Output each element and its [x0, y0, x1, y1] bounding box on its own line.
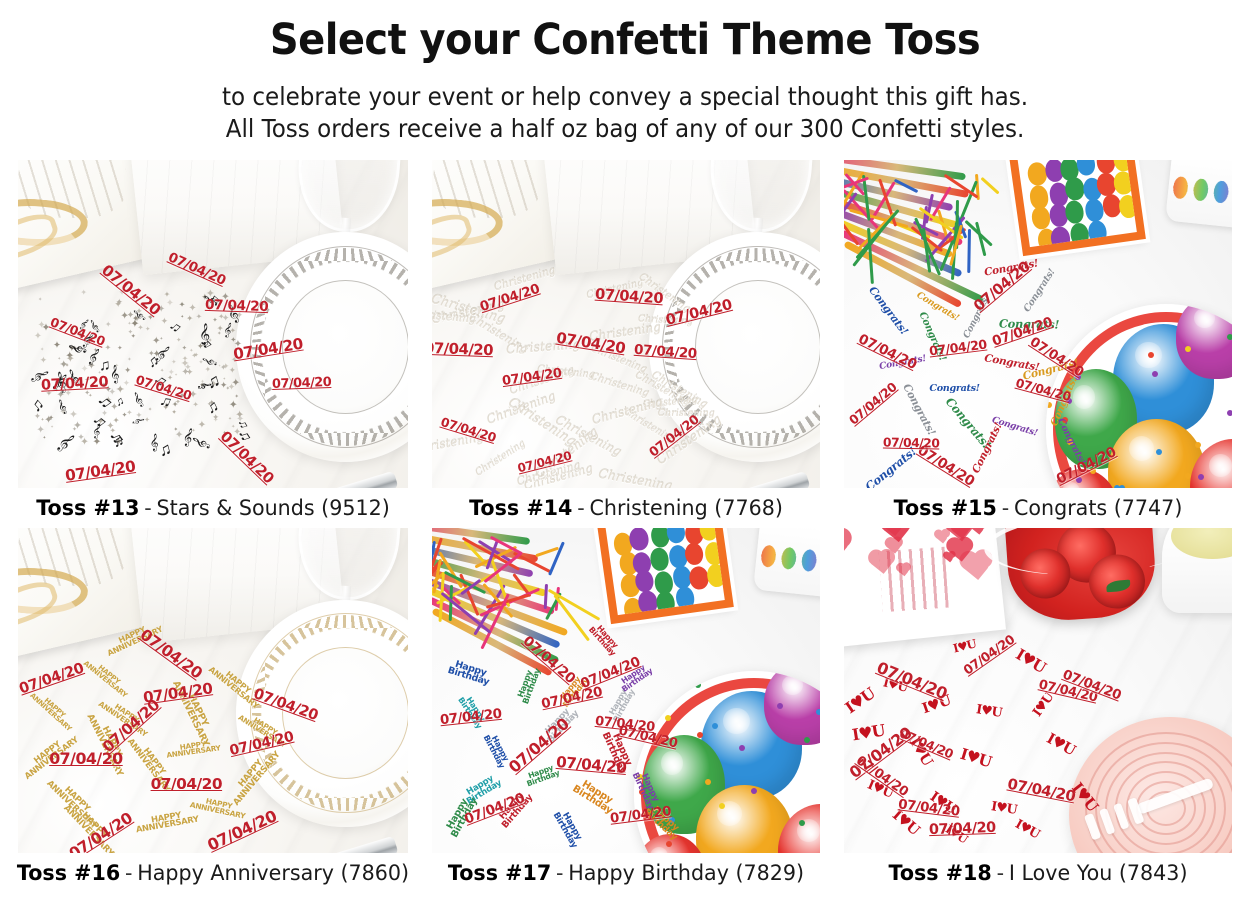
- happy-birthday-confetti: HappyBirthday: [588, 621, 622, 657]
- date-confetti: 07/04/20: [439, 707, 502, 728]
- date-confetti: 07/04/20: [1014, 376, 1072, 404]
- page-header: Select your Confetti Theme Toss to celeb…: [0, 0, 1250, 144]
- product-cell-toss-14[interactable]: ChristeningChristeningChristeningChriste…: [432, 160, 820, 528]
- star-confetti: ✦: [120, 312, 129, 322]
- star-confetti: ✦: [105, 321, 112, 329]
- product-number: Toss #17: [448, 861, 551, 886]
- page-root: Select your Confetti Theme Toss to celeb…: [0, 0, 1250, 917]
- star-confetti: ✦: [40, 356, 48, 365]
- confetti-layer-stars-and-sounds: ✦✦✦✦✦✦✦✦✦✦✦✦✦✦✦✦✦✦✦✦✦✦✦✦✦✦✦✦✦✦✦✦✦✦✦✦✦✦✦✦…: [18, 160, 408, 488]
- i-love-you-confetti: I♥U: [1013, 815, 1042, 840]
- star-confetti: ✦: [105, 344, 111, 351]
- date-confetti: 07/04/20: [1006, 775, 1077, 805]
- product-caption-toss-15: Toss #15 - Congrats (7747): [852, 488, 1224, 528]
- star-confetti: ✦: [182, 346, 187, 352]
- happy-birthday-confetti: HappyBirthday: [515, 665, 541, 705]
- star-confetti: ✦: [40, 348, 45, 354]
- caption-dash: -: [1002, 496, 1009, 521]
- star-confetti: ✦: [171, 360, 177, 367]
- i-love-you-confetti: I♥U: [1043, 730, 1077, 759]
- star-confetti: ✦: [69, 410, 78, 421]
- date-confetti: 07/04/20: [271, 375, 331, 392]
- star-confetti: ✦: [53, 341, 61, 351]
- confetti-theme-grid: ✦✦✦✦✦✦✦✦✦✦✦✦✦✦✦✦✦✦✦✦✦✦✦✦✦✦✦✦✦✦✦✦✦✦✦✦✦✦✦✦…: [18, 160, 1232, 893]
- star-confetti: ✦: [92, 438, 101, 448]
- product-caption-toss-13: Toss #13 - Stars & Sounds (9512): [26, 488, 400, 528]
- music-note-confetti: 𝄞: [56, 432, 77, 453]
- date-confetti: 07/04/20: [166, 250, 228, 289]
- caption-dash: -: [556, 861, 563, 886]
- star-confetti: ✦: [228, 417, 232, 421]
- star-confetti: ✦: [73, 421, 82, 432]
- star-confetti: ✦: [131, 334, 136, 340]
- star-confetti: ✦: [42, 436, 46, 440]
- music-note-confetti: 𝄞: [55, 399, 68, 414]
- music-note-confetti: 𝄞: [153, 345, 170, 363]
- caption-dash: -: [125, 861, 132, 886]
- date-confetti: 07/04/20: [232, 335, 304, 364]
- christening-confetti: Christening: [597, 466, 673, 488]
- product-caption-toss-14: Toss #14 - Christening (7768): [440, 488, 812, 528]
- congrats-confetti: Congrats!: [862, 444, 919, 488]
- music-note-confetti: 𝄞: [150, 436, 159, 451]
- star-confetti: ✦: [176, 338, 181, 344]
- date-confetti: 07/04/20: [432, 339, 494, 359]
- product-caption-toss-16: Toss #16 - Happy Anniversary (7860): [26, 853, 400, 893]
- star-confetti: ✦: [198, 420, 207, 431]
- star-confetti: ✦: [124, 366, 131, 374]
- product-photo-happy-birthday[interactable]: HappyBirthdayHappyBirthdayHappyBirthdayH…: [432, 528, 820, 853]
- product-number: Toss #18: [888, 861, 991, 886]
- music-note-confetti: 𝄞: [110, 367, 121, 384]
- star-confetti: ✦: [66, 354, 75, 365]
- star-confetti: ✦: [127, 358, 132, 364]
- product-name: Stars & Sounds (9512): [157, 496, 390, 521]
- star-confetti: ✦: [145, 327, 150, 334]
- product-name: Congrats (7747): [1014, 496, 1182, 521]
- date-confetti: 07/04/20: [151, 775, 223, 793]
- happy-birthday-confetti: HappyBirthday: [446, 659, 492, 687]
- music-note-confetti: 𝄞: [192, 436, 211, 452]
- caption-dash: -: [144, 496, 151, 521]
- happy-anniversary-confetti: HAPPYANNIVERSARY: [28, 687, 76, 732]
- star-confetti: ✦: [164, 291, 171, 299]
- product-number: Toss #16: [17, 861, 120, 886]
- star-confetti: ✦: [126, 409, 132, 417]
- i-love-you-confetti: I♥U: [844, 683, 878, 717]
- i-love-you-confetti: I♥U: [958, 745, 993, 771]
- star-confetti: ✦: [193, 401, 199, 409]
- product-cell-toss-16[interactable]: HAPPYANNIVERSARYHAPPYANNIVERSARYHAPPYANN…: [18, 528, 408, 893]
- star-confetti: ✦: [77, 433, 85, 442]
- product-name: Happy Anniversary (7860): [137, 861, 409, 886]
- star-confetti: ✦: [41, 418, 45, 422]
- confetti-layer-i-love-you: I♥UI♥UI♥UI♥UI♥UI♥UI♥UI♥UI♥UI♥UI♥UI♥UI♥UI…: [844, 528, 1232, 853]
- music-note-confetti: 𝄞: [131, 392, 144, 408]
- star-confetti: ✦: [59, 392, 64, 398]
- product-photo-i-love-you[interactable]: I♥UI♥UI♥UI♥UI♥UI♥UI♥UI♥UI♥UI♥UI♥UI♥UI♥UI…: [844, 528, 1232, 853]
- star-confetti: ✦: [180, 315, 184, 319]
- product-cell-toss-17[interactable]: HappyBirthdayHappyBirthdayHappyBirthdayH…: [432, 528, 820, 893]
- happy-anniversary-confetti: HAPPYANNIVERSARY: [82, 656, 132, 700]
- i-love-you-confetti: I♥U: [951, 636, 977, 655]
- subtitle-line-2: All Toss orders receive a half oz bag of…: [38, 113, 1213, 144]
- i-love-you-confetti: I♥U: [975, 702, 1003, 721]
- product-photo-congrats[interactable]: Congrats!Congrats!Congrats!Congrats!Cong…: [844, 160, 1232, 488]
- confetti-layer-christening: ChristeningChristeningChristeningChriste…: [432, 160, 820, 488]
- music-note-confetti: ♫: [167, 319, 185, 337]
- product-number: Toss #13: [36, 496, 139, 521]
- congrats-confetti: Congrats!: [866, 284, 911, 337]
- page-subtitle: to celebrate your event or help convey a…: [38, 81, 1213, 144]
- confetti-layer-happy-anniversary: HAPPYANNIVERSARYHAPPYANNIVERSARYHAPPYANN…: [18, 528, 408, 853]
- star-confetti: ✦: [231, 426, 235, 431]
- star-confetti: ✦: [152, 336, 161, 347]
- star-confetti: ✦: [174, 373, 177, 377]
- i-love-you-confetti: I♥U: [990, 799, 1018, 818]
- caption-dash: -: [997, 861, 1004, 886]
- product-caption-toss-18: Toss #18 - I Love You (7843): [852, 853, 1224, 893]
- product-number: Toss #14: [469, 496, 572, 521]
- star-confetti: ✦: [172, 411, 177, 417]
- happy-anniversary-confetti: HAPPYANNIVERSARY: [134, 809, 199, 835]
- music-note-confetti: 𝄞: [131, 417, 143, 426]
- happy-birthday-confetti: HappyBirthday: [552, 807, 585, 849]
- date-confetti: 07/04/20: [137, 626, 206, 683]
- music-note-confetti: ♫: [157, 440, 174, 460]
- music-note-confetti: 𝄞: [197, 381, 210, 391]
- star-confetti: ✦: [231, 378, 240, 389]
- star-confetti: ✦: [48, 416, 51, 420]
- product-name: Christening (7768): [589, 496, 782, 521]
- date-confetti: 07/04/20: [205, 297, 269, 315]
- star-confetti: ✦: [166, 299, 174, 309]
- star-confetti: ✦: [144, 416, 150, 423]
- star-confetti: ✦: [80, 289, 87, 297]
- date-confetti: 07/04/20: [846, 379, 900, 427]
- date-confetti: 07/04/20: [929, 819, 996, 837]
- star-confetti: ✦: [229, 366, 236, 375]
- star-confetti: ✦: [186, 315, 193, 323]
- star-confetti: ✦: [181, 368, 189, 378]
- confetti-layer-congrats: Congrats!Congrats!Congrats!Congrats!Cong…: [844, 160, 1232, 488]
- star-confetti: ✦: [38, 298, 43, 304]
- star-confetti: ✦: [196, 313, 202, 321]
- date-confetti: 07/04/20: [18, 661, 86, 698]
- star-confetti: ✦: [114, 300, 122, 309]
- star-confetti: ✦: [213, 417, 219, 424]
- product-cell-toss-15[interactable]: Congrats!Congrats!Congrats!Congrats!Cong…: [844, 160, 1232, 528]
- congrats-confetti: Congrats!: [929, 383, 979, 394]
- caption-dash: -: [577, 496, 584, 521]
- product-cell-toss-18[interactable]: I♥UI♥UI♥UI♥UI♥UI♥UI♥UI♥UI♥UI♥UI♥UI♥UI♥UI…: [844, 528, 1232, 893]
- product-photo-stars-and-sounds[interactable]: ✦✦✦✦✦✦✦✦✦✦✦✦✦✦✦✦✦✦✦✦✦✦✦✦✦✦✦✦✦✦✦✦✦✦✦✦✦✦✦✦…: [18, 160, 408, 488]
- product-photo-happy-anniversary[interactable]: HAPPYANNIVERSARYHAPPYANNIVERSARYHAPPYANN…: [18, 528, 408, 853]
- star-confetti: ✦: [161, 317, 169, 326]
- i-love-you-confetti: I♥U: [1012, 645, 1048, 676]
- product-caption-toss-17: Toss #17 - Happy Birthday (7829): [440, 853, 812, 893]
- product-name: I Love You (7843): [1009, 861, 1188, 886]
- star-confetti: ✦: [113, 417, 120, 425]
- star-confetti: ✦: [122, 413, 127, 419]
- date-confetti: 07/04/20: [594, 286, 663, 308]
- star-confetti: ✦: [217, 332, 222, 338]
- date-confetti: 07/04/20: [883, 435, 940, 450]
- star-confetti: ✦: [88, 394, 92, 399]
- star-confetti: ✦: [230, 338, 236, 345]
- star-confetti: ✦: [222, 362, 229, 370]
- star-confetti: ✦: [80, 365, 88, 375]
- happy-birthday-confetti: HappyBirthday: [570, 777, 617, 815]
- product-photo-christening[interactable]: ChristeningChristeningChristeningChriste…: [432, 160, 820, 488]
- product-cell-toss-13[interactable]: ✦✦✦✦✦✦✦✦✦✦✦✦✦✦✦✦✦✦✦✦✦✦✦✦✦✦✦✦✦✦✦✦✦✦✦✦✦✦✦✦…: [18, 160, 408, 528]
- star-confetti: ✦: [191, 352, 197, 360]
- page-title: Select your Confetti Theme Toss: [44, 18, 1207, 63]
- star-confetti: ✦: [117, 346, 122, 352]
- date-confetti: 07/04/20: [633, 342, 697, 362]
- product-number: Toss #15: [894, 496, 997, 521]
- subtitle-line-1: to celebrate your event or help convey a…: [38, 81, 1213, 112]
- star-confetti: ✦: [148, 408, 152, 413]
- date-confetti: 07/04/20: [1053, 445, 1118, 488]
- date-confetti: 07/04/20: [64, 457, 136, 485]
- product-name: Happy Birthday (7829): [568, 861, 804, 886]
- star-confetti: ✦: [173, 428, 178, 434]
- star-confetti: ✦: [179, 301, 185, 309]
- confetti-layer-happy-birthday: HappyBirthdayHappyBirthdayHappyBirthdayH…: [432, 528, 820, 853]
- date-confetti: 07/04/20: [41, 375, 109, 394]
- music-note-confetti: ♫: [99, 358, 111, 374]
